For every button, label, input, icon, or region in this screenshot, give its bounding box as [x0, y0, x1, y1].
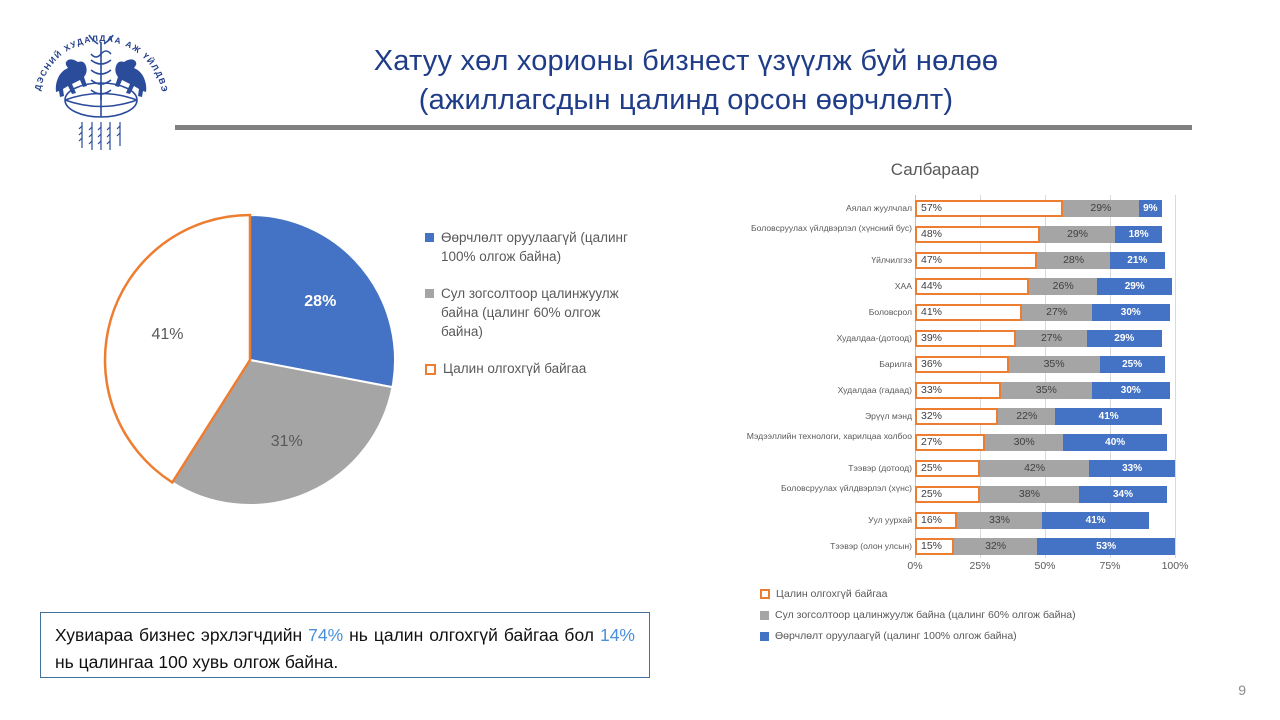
bar-segment: 28%: [1037, 252, 1110, 269]
bar-segment-value: 44%: [917, 280, 942, 292]
bar-chart-category-label: ХАА: [697, 281, 912, 291]
bar-chart-row: Мэдээллийн технологи, харилцаа холбоо27%…: [915, 429, 1175, 455]
bar-segment: 41%: [1042, 512, 1149, 529]
bar-chart-category-label: Аялал жуулчлал: [697, 203, 912, 213]
bar-segment: 42%: [980, 460, 1089, 477]
bar-chart: Салбараар Аялал жуулчлал57%29%9%Боловсру…: [690, 160, 1210, 680]
page-number: 9: [1238, 682, 1246, 698]
bar-chart-category-label: Мэдээллийн технологи, харилцаа холбоо: [697, 431, 912, 441]
bar-segment-value: 25%: [917, 488, 942, 500]
bar-segment: 36%: [915, 356, 1009, 373]
bar-chart-category-label: Тээвэр (дотоод): [697, 463, 912, 473]
bar-segment: 29%: [1097, 278, 1172, 295]
bar-segment-value: 40%: [1063, 437, 1167, 448]
x-axis-tick-label: 25%: [969, 560, 990, 572]
pie-legend-item[interactable]: Сул зогсолтоор цалинжуулж байна (цалинг …: [425, 284, 640, 341]
bar-segment: 33%: [915, 382, 1001, 399]
bar-segment-value: 39%: [917, 332, 942, 344]
legend-swatch-blue-icon: [760, 632, 769, 641]
bar-segment-value: 34%: [1079, 489, 1167, 500]
bar-chart-plot-area: Аялал жуулчлал57%29%9%Боловсруулах үйлдв…: [915, 195, 1175, 558]
pie-slice-label-blue: 28%: [304, 293, 336, 311]
bar-chart-row: Тээвэр (дотоод)25%42%33%: [915, 455, 1175, 481]
bar-segment: 18%: [1115, 226, 1162, 243]
page-title: Хатуу хөл хорионы бизнест үзүүлж буй нөл…: [180, 42, 1192, 120]
svg-text:МОНГОЛЫН ҮНДЭСНИЙ ХУДАЛДАА АЖ: МОНГОЛЫН ҮНДЭСНИЙ ХУДАЛДАА АЖ ҮЙЛДВЭРИЙН…: [26, 14, 170, 94]
bar-segment-value: 27%: [1016, 332, 1086, 344]
mongolian-national-chamber-of-commerce-logo: МОНГОЛЫН ҮНДЭСНИЙ ХУДАЛДАА АЖ ҮЙЛДВЭРИЙН…: [26, 14, 176, 154]
pie-legend: Өөрчлөлт оруулаагүй (цалинг 100% олгож б…: [425, 228, 640, 396]
bar-segment-value: 33%: [1089, 463, 1175, 474]
bar-segment-value: 41%: [1042, 515, 1149, 526]
bar-chart-category-label: Тээвэр (олон улсын): [697, 541, 912, 551]
bar-segment: 47%: [915, 252, 1037, 269]
bar-legend-item[interactable]: Сул зогсолтоор цалинжуулж байна (цалинг …: [760, 609, 1076, 621]
bar-segment: 32%: [915, 408, 998, 425]
bar-segment-value: 30%: [1092, 307, 1170, 318]
bar-segment: 53%: [1037, 538, 1175, 555]
bar-segment: 57%: [915, 200, 1063, 217]
bar-chart-title: Салбараар: [690, 160, 1180, 180]
callout-part2: нь цалин олгохгүй байгаа бол: [343, 625, 600, 645]
bar-chart-category-label: Боловсруулах үйлдвэрлэл (хүнсний бус): [697, 223, 912, 233]
bar-segment: 27%: [1016, 330, 1086, 347]
bar-segment-value: 22%: [998, 410, 1055, 422]
pie-legend-label: Цалин олгохгүй байгаа: [443, 359, 586, 378]
bar-chart-row: Худалдаа-(дотоод)39%27%29%: [915, 325, 1175, 351]
pie-legend-item[interactable]: Өөрчлөлт оруулаагүй (цалинг 100% олгож б…: [425, 228, 640, 266]
bar-segment-value: 27%: [917, 436, 942, 448]
bar-segment: 27%: [1022, 304, 1092, 321]
bar-segment-value: 29%: [1097, 281, 1172, 292]
pie-slice-label-orange: 41%: [151, 326, 183, 344]
bar-segment-value: 29%: [1040, 228, 1115, 240]
callout-part1: Хувиараа бизнес эрхлэгчдийн: [55, 625, 308, 645]
bar-segment-value: 21%: [1110, 255, 1165, 266]
bar-chart-row: Аялал жуулчлал57%29%9%: [915, 195, 1175, 221]
bar-legend-item[interactable]: Цалин олгохгүй байгаа: [760, 588, 1076, 600]
callout-highlight-74: 74%: [308, 625, 343, 645]
bar-chart-category-label: Барилга: [697, 359, 912, 369]
bar-chart-row: Худалдаа (гадаад)33%35%30%: [915, 377, 1175, 403]
bar-segment: 39%: [915, 330, 1016, 347]
bar-segment-value: 38%: [980, 488, 1079, 500]
bar-segment: 40%: [1063, 434, 1167, 451]
bar-segment-value: 29%: [1087, 333, 1162, 344]
bar-chart-row: Барилга36%35%25%: [915, 351, 1175, 377]
bar-segment: 35%: [1001, 382, 1092, 399]
bar-segment: 30%: [985, 434, 1063, 451]
bar-segment-value: 35%: [1009, 358, 1100, 370]
bar-legend-label: Өөрчлөлт оруулаагүй (цалинг 100% олгож б…: [775, 630, 1017, 642]
bar-segment-value: 27%: [1022, 306, 1092, 318]
grid-line: [1175, 195, 1176, 558]
bar-segment-value: 53%: [1037, 541, 1175, 552]
bar-segment: 38%: [980, 486, 1079, 503]
bar-chart-category-label: Боловсруулах үйлдвэрлэл (хүнс): [697, 483, 912, 493]
bar-segment: 44%: [915, 278, 1029, 295]
page-title-line1: Хатуу хөл хорионы бизнест үзүүлж буй нөл…: [180, 42, 1192, 81]
bar-segment-value: 16%: [917, 514, 942, 526]
slide: МОНГОЛЫН ҮНДЭСНИЙ ХУДАЛДАА АЖ ҮЙЛДВЭРИЙН…: [0, 0, 1280, 720]
bar-segment: 26%: [1029, 278, 1097, 295]
bar-segment-value: 15%: [917, 540, 942, 552]
bar-segment-value: 41%: [1055, 411, 1162, 422]
summary-callout-text: Хувиараа бизнес эрхлэгчдийн 74% нь цалин…: [55, 622, 635, 676]
callout-highlight-14: 14%: [600, 625, 635, 645]
bar-chart-category-label: Худалдаа-(дотоод): [697, 333, 912, 343]
bar-segment: 21%: [1110, 252, 1165, 269]
bar-segment: 29%: [1040, 226, 1115, 243]
bar-segment: 22%: [998, 408, 1055, 425]
bar-segment: 33%: [957, 512, 1043, 529]
bar-segment: 29%: [1063, 200, 1138, 217]
bar-segment: 41%: [1055, 408, 1162, 425]
bar-chart-row: Боловсруулах үйлдвэрлэл (хүнсний бус)48%…: [915, 221, 1175, 247]
bar-segment: 25%: [1100, 356, 1165, 373]
bar-segment-value: 30%: [985, 436, 1063, 448]
legend-swatch-blue-icon: [425, 233, 434, 242]
bar-segment: 9%: [1139, 200, 1162, 217]
bar-segment: 15%: [915, 538, 954, 555]
bar-segment-value: 29%: [1063, 202, 1138, 214]
bar-segment: 27%: [915, 434, 985, 451]
bar-segment: 30%: [1092, 382, 1170, 399]
bar-segment-value: 32%: [954, 540, 1037, 552]
bar-segment: 33%: [1089, 460, 1175, 477]
bar-segment-value: 33%: [957, 514, 1043, 526]
bar-chart-row: Боловсрол41%27%30%: [915, 299, 1175, 325]
pie-legend-label: Өөрчлөлт оруулаагүй (цалинг 100% олгож б…: [441, 228, 640, 266]
bar-segment: 25%: [915, 486, 980, 503]
bar-segment: 32%: [954, 538, 1037, 555]
bar-segment: 29%: [1087, 330, 1162, 347]
bar-segment-value: 26%: [1029, 280, 1097, 292]
title-divider: [175, 125, 1192, 130]
bar-chart-row: ХАА44%26%29%: [915, 273, 1175, 299]
bar-segment: 34%: [1079, 486, 1167, 503]
bar-legend-label: Цалин олгохгүй байгаа: [776, 588, 887, 600]
x-axis-tick-label: 100%: [1162, 560, 1189, 572]
x-axis-tick-label: 0%: [907, 560, 922, 572]
pie-slice-label-gray: 31%: [271, 433, 303, 451]
bar-segment: 16%: [915, 512, 957, 529]
bar-chart-category-label: Худалдаа (гадаад): [697, 385, 912, 395]
bar-segment-value: 47%: [917, 254, 942, 266]
bar-chart-row: Тээвэр (олон улсын)15%32%53%: [915, 533, 1175, 559]
bar-chart-row: Эрүүл мэнд32%22%41%: [915, 403, 1175, 429]
bar-segment-value: 32%: [917, 410, 942, 422]
summary-callout: Хувиараа бизнес эрхлэгчдийн 74% нь цалин…: [40, 612, 650, 678]
legend-swatch-gray-icon: [760, 611, 769, 620]
legend-swatch-orange-icon: [425, 364, 436, 375]
bar-segment-value: 48%: [917, 228, 942, 240]
bar-chart-row: Боловсруулах үйлдвэрлэл (хүнс)25%38%34%: [915, 481, 1175, 507]
legend-swatch-orange-icon: [760, 589, 770, 599]
bar-segment: 41%: [915, 304, 1022, 321]
bar-segment-value: 30%: [1092, 385, 1170, 396]
bar-segment-value: 41%: [917, 306, 942, 318]
bar-segment: 48%: [915, 226, 1040, 243]
bar-legend: Цалин олгохгүй байгаа Сул зогсолтоор цал…: [760, 588, 1076, 651]
pie-legend-item[interactable]: Цалин олгохгүй байгаа: [425, 359, 640, 378]
bar-chart-row: Үйлчилгээ47%28%21%: [915, 247, 1175, 273]
bar-chart-category-label: Уул уурхай: [697, 515, 912, 525]
bar-segment-value: 36%: [917, 358, 942, 370]
bar-segment-value: 25%: [1100, 359, 1165, 370]
bar-segment-value: 25%: [917, 462, 942, 474]
legend-swatch-gray-icon: [425, 289, 434, 298]
bar-segment-value: 18%: [1115, 229, 1162, 240]
bar-segment: 30%: [1092, 304, 1170, 321]
bar-chart-row: Уул уурхай16%33%41%: [915, 507, 1175, 533]
bar-segment-value: 33%: [917, 384, 942, 396]
callout-part3: нь цалингаа 100 хувь олгож байна.: [55, 652, 338, 672]
bar-legend-label: Сул зогсолтоор цалинжуулж байна (цалинг …: [775, 609, 1076, 621]
bar-legend-item[interactable]: Өөрчлөлт оруулаагүй (цалинг 100% олгож б…: [760, 630, 1076, 642]
page-title-line2: (ажиллагсдын цалинд орсон өөрчлөлт): [180, 81, 1192, 120]
x-axis-tick-label: 75%: [1099, 560, 1120, 572]
bar-segment-value: 9%: [1139, 203, 1162, 214]
bar-chart-category-label: Эрүүл мэнд: [697, 411, 912, 421]
bar-segment-value: 57%: [917, 202, 942, 214]
bar-segment: 25%: [915, 460, 980, 477]
pie-chart-svg: [95, 205, 410, 515]
bar-segment-value: 35%: [1001, 384, 1092, 396]
pie-chart: 28% 31% 41%: [95, 205, 410, 515]
x-axis-tick-label: 50%: [1034, 560, 1055, 572]
bar-segment-value: 28%: [1037, 254, 1110, 266]
bar-chart-category-label: Үйлчилгээ: [697, 255, 912, 265]
bar-segment-value: 42%: [980, 462, 1089, 474]
pie-legend-label: Сул зогсолтоор цалинжуулж байна (цалинг …: [441, 284, 640, 341]
bar-chart-x-axis: 0%25%50%75%100%: [915, 560, 1175, 576]
bar-segment: 35%: [1009, 356, 1100, 373]
bar-chart-category-label: Боловсрол: [697, 307, 912, 317]
